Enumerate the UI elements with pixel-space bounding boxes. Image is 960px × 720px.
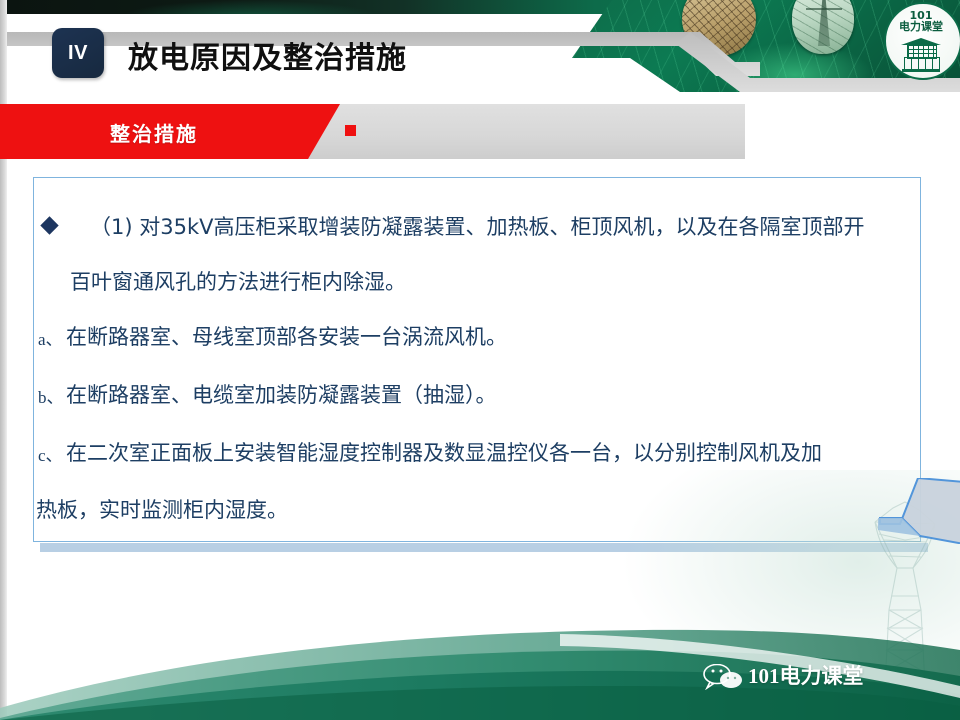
page-title: 放电原因及整治措施 [128,33,407,77]
content-line-6: 热板，实时监测柜内湿度。 [36,494,288,524]
slide-number-label: IV [52,28,104,78]
section-tab-label: 整治措施 [110,118,198,147]
logo-gate-icon [896,38,946,72]
brand-logo: 101 电力课堂 [884,2,958,86]
watermark-text: 101电力课堂 [748,664,864,688]
chevron-arrow-icon [878,478,960,544]
content-line-5: 在二次室正面板上安装智能湿度控制器及数显温控仪各一台，以分别控制风机及加 [66,437,822,467]
wechat-icon [702,664,744,690]
content-marker-a: a、 [38,325,63,350]
square-bullet-icon [345,125,356,136]
content-marker-b: b、 [38,383,64,408]
logo-text: 101 电力课堂 [890,10,952,32]
slide-canvas: 101 电力课堂 IV 放电原因及整治措施 整治措施 （1) 对35kV高压柜采… [0,0,960,720]
content-line-1: （1) 对35kV高压柜采取增装防凝露装置、加热板、柜顶风机，以及在各隔室顶部开 [90,211,864,241]
content-line-4: 在断路器室、电缆室加装防凝露装置（抽湿）。 [66,379,497,409]
content-marker-c: c、 [38,441,63,466]
logo-text-line2: 电力课堂 [890,21,952,32]
content-line-3: 在断路器室、母线室顶部各安装一台涡流风机。 [66,321,507,351]
slide-number-badge: IV [52,28,104,78]
content-line-2: 百叶窗通风孔的方法进行柜内除湿。 [70,266,406,296]
watermark: 101电力课堂 [748,660,948,694]
